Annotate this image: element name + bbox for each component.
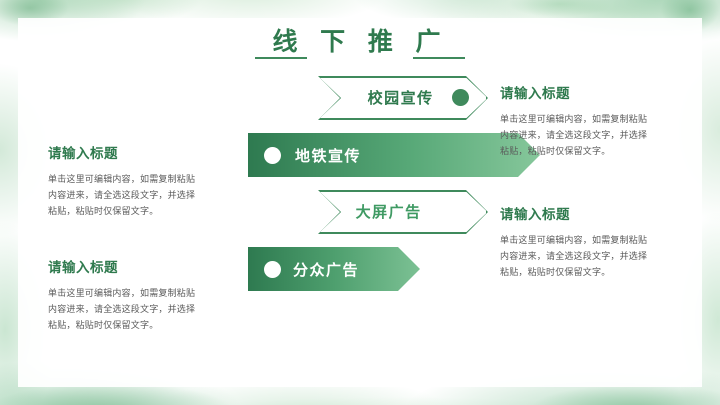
text-block-left-bottom[interactable]: 请输入标题 单击这里可编辑内容，如需复制粘贴内容进来，请全选这段文字，并选择粘贴… — [48, 256, 200, 333]
page-title: 线 下 推 广 — [0, 22, 720, 58]
bullet-dot-icon — [452, 89, 469, 106]
text-block-right-top[interactable]: 请输入标题 单击这里可编辑内容，如需复制粘贴内容进来，请全选这段文字，并选择粘贴… — [500, 82, 652, 159]
arrow-bar-campus-promotion[interactable]: 校园宣传 — [318, 76, 488, 120]
arrow-bar-label: 地铁宣传 — [295, 145, 361, 166]
arrow-bar-bigscreen-ad[interactable]: 大屏广告 — [318, 190, 488, 234]
arrow-bar-focus-media-ad[interactable]: 分众广告 — [248, 247, 420, 291]
text-block-heading: 请输入标题 — [48, 256, 200, 276]
arrow-bar-label: 校园宣传 — [368, 87, 434, 108]
text-block-right-bottom[interactable]: 请输入标题 单击这里可编辑内容，如需复制粘贴内容进来，请全选这段文字，并选择粘贴… — [500, 203, 652, 280]
text-block-body: 单击这里可编辑内容，如需复制粘贴内容进来，请全选这段文字，并选择粘贴，粘贴时仅保… — [48, 171, 200, 219]
arrow-bar-inner: 校园宣传 — [320, 78, 487, 119]
text-block-left-top[interactable]: 请输入标题 单击这里可编辑内容，如需复制粘贴内容进来，请全选这段文字，并选择粘贴… — [48, 142, 200, 219]
bullet-dot-icon — [264, 261, 281, 278]
text-block-heading: 请输入标题 — [500, 203, 652, 223]
arrow-bar-label: 大屏广告 — [356, 201, 422, 222]
text-block-body: 单击这里可编辑内容，如需复制粘贴内容进来，请全选这段文字，并选择粘贴，粘贴时仅保… — [500, 111, 652, 159]
text-block-body: 单击这里可编辑内容，如需复制粘贴内容进来，请全选这段文字，并选择粘贴，粘贴时仅保… — [500, 232, 652, 280]
text-block-heading: 请输入标题 — [48, 142, 200, 162]
bullet-dot-icon — [264, 147, 281, 164]
text-block-body: 单击这里可编辑内容，如需复制粘贴内容进来，请全选这段文字，并选择粘贴，粘贴时仅保… — [48, 285, 200, 333]
arrow-bar-inner: 大屏广告 — [320, 192, 487, 233]
title-rule-left — [255, 57, 307, 59]
text-block-heading: 请输入标题 — [500, 82, 652, 102]
slide-canvas: 线 下 推 广 校园宣传 地铁宣传 大屏广告 分众广告 请输入标题 单击这里可编… — [0, 0, 720, 405]
arrow-bar-subway-promotion[interactable]: 地铁宣传 — [248, 133, 540, 177]
arrow-bar-label: 分众广告 — [293, 259, 359, 280]
title-rule-right — [413, 57, 465, 59]
